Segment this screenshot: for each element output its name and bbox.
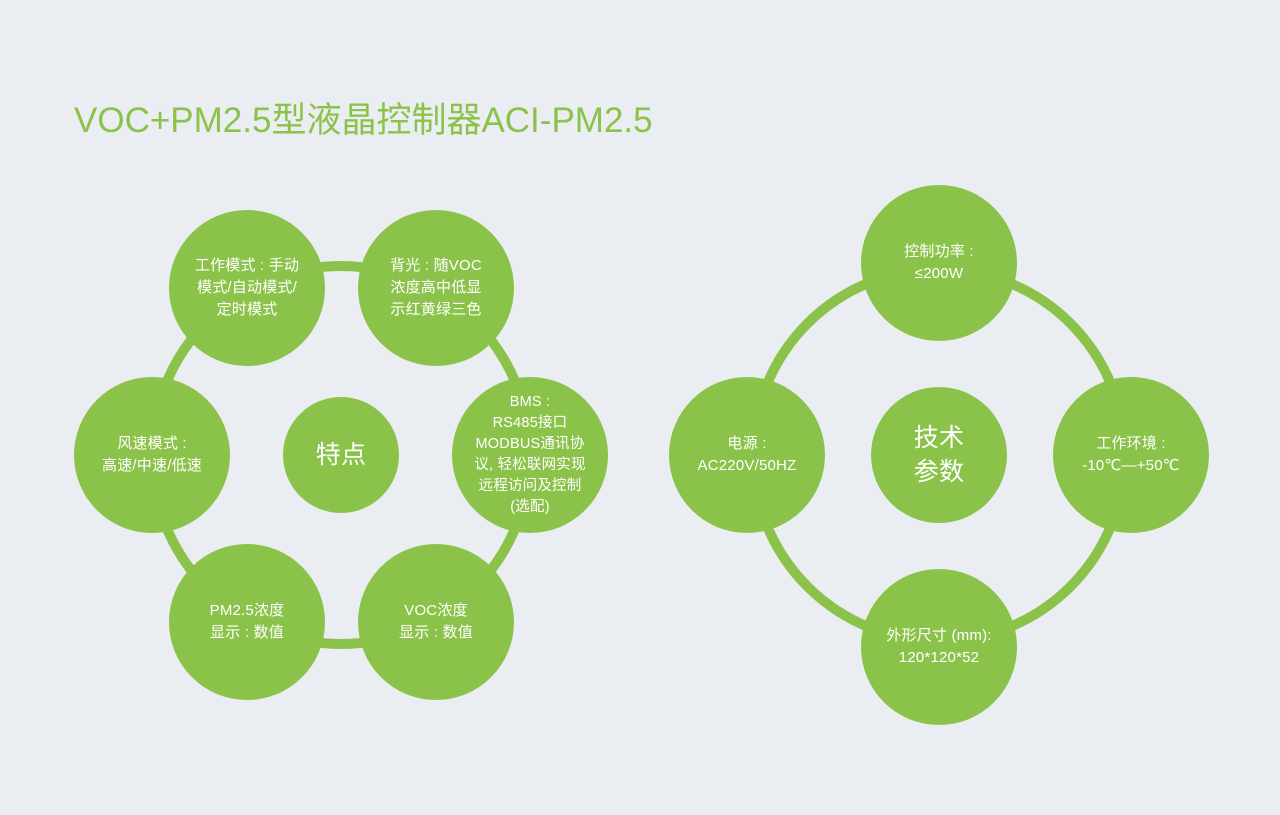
node-circle-control-power[interactable] bbox=[861, 185, 1017, 341]
specs-node-circles bbox=[669, 185, 1209, 725]
specs-diagram bbox=[0, 0, 1280, 815]
node-circle-dimensions[interactable] bbox=[861, 569, 1017, 725]
poster-page: VOC+PM2.5型液晶控制器ACI-PM2.5 工作模式 : 手动 模式/自动… bbox=[0, 0, 1280, 815]
node-circle-specs-center[interactable] bbox=[871, 387, 1007, 523]
node-circle-working-environment[interactable] bbox=[1053, 377, 1209, 533]
node-circle-power-supply[interactable] bbox=[669, 377, 825, 533]
